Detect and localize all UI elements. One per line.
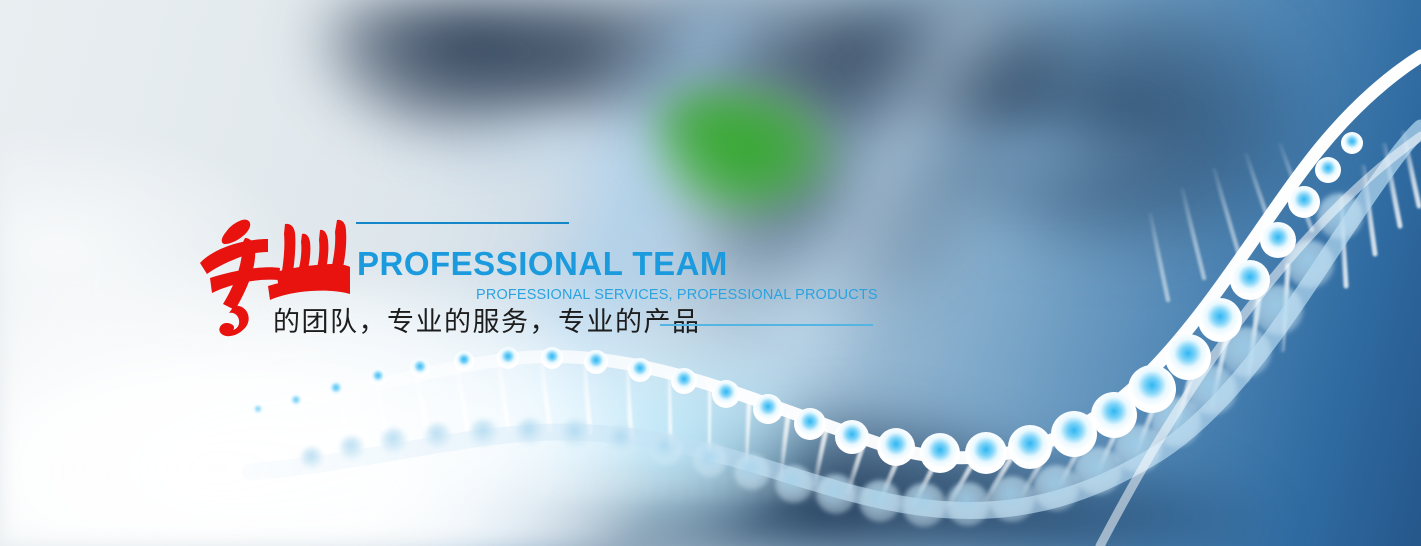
tagline-chinese: 的团队，专业的服务，专业的产品 xyxy=(273,306,701,340)
page-title: PROFESSIONAL TEAM xyxy=(357,245,728,283)
subtitle: PROFESSIONAL SERVICES, PROFESSIONAL PROD… xyxy=(476,286,878,304)
promo-banner: PROFESSIONAL TEAM PROFESSIONAL SERVICES,… xyxy=(0,0,1421,546)
decorative-rule-bottom xyxy=(660,324,873,326)
decorative-rule-top xyxy=(356,222,569,224)
banner-text-block: PROFESSIONAL TEAM PROFESSIONAL SERVICES,… xyxy=(0,0,1421,546)
